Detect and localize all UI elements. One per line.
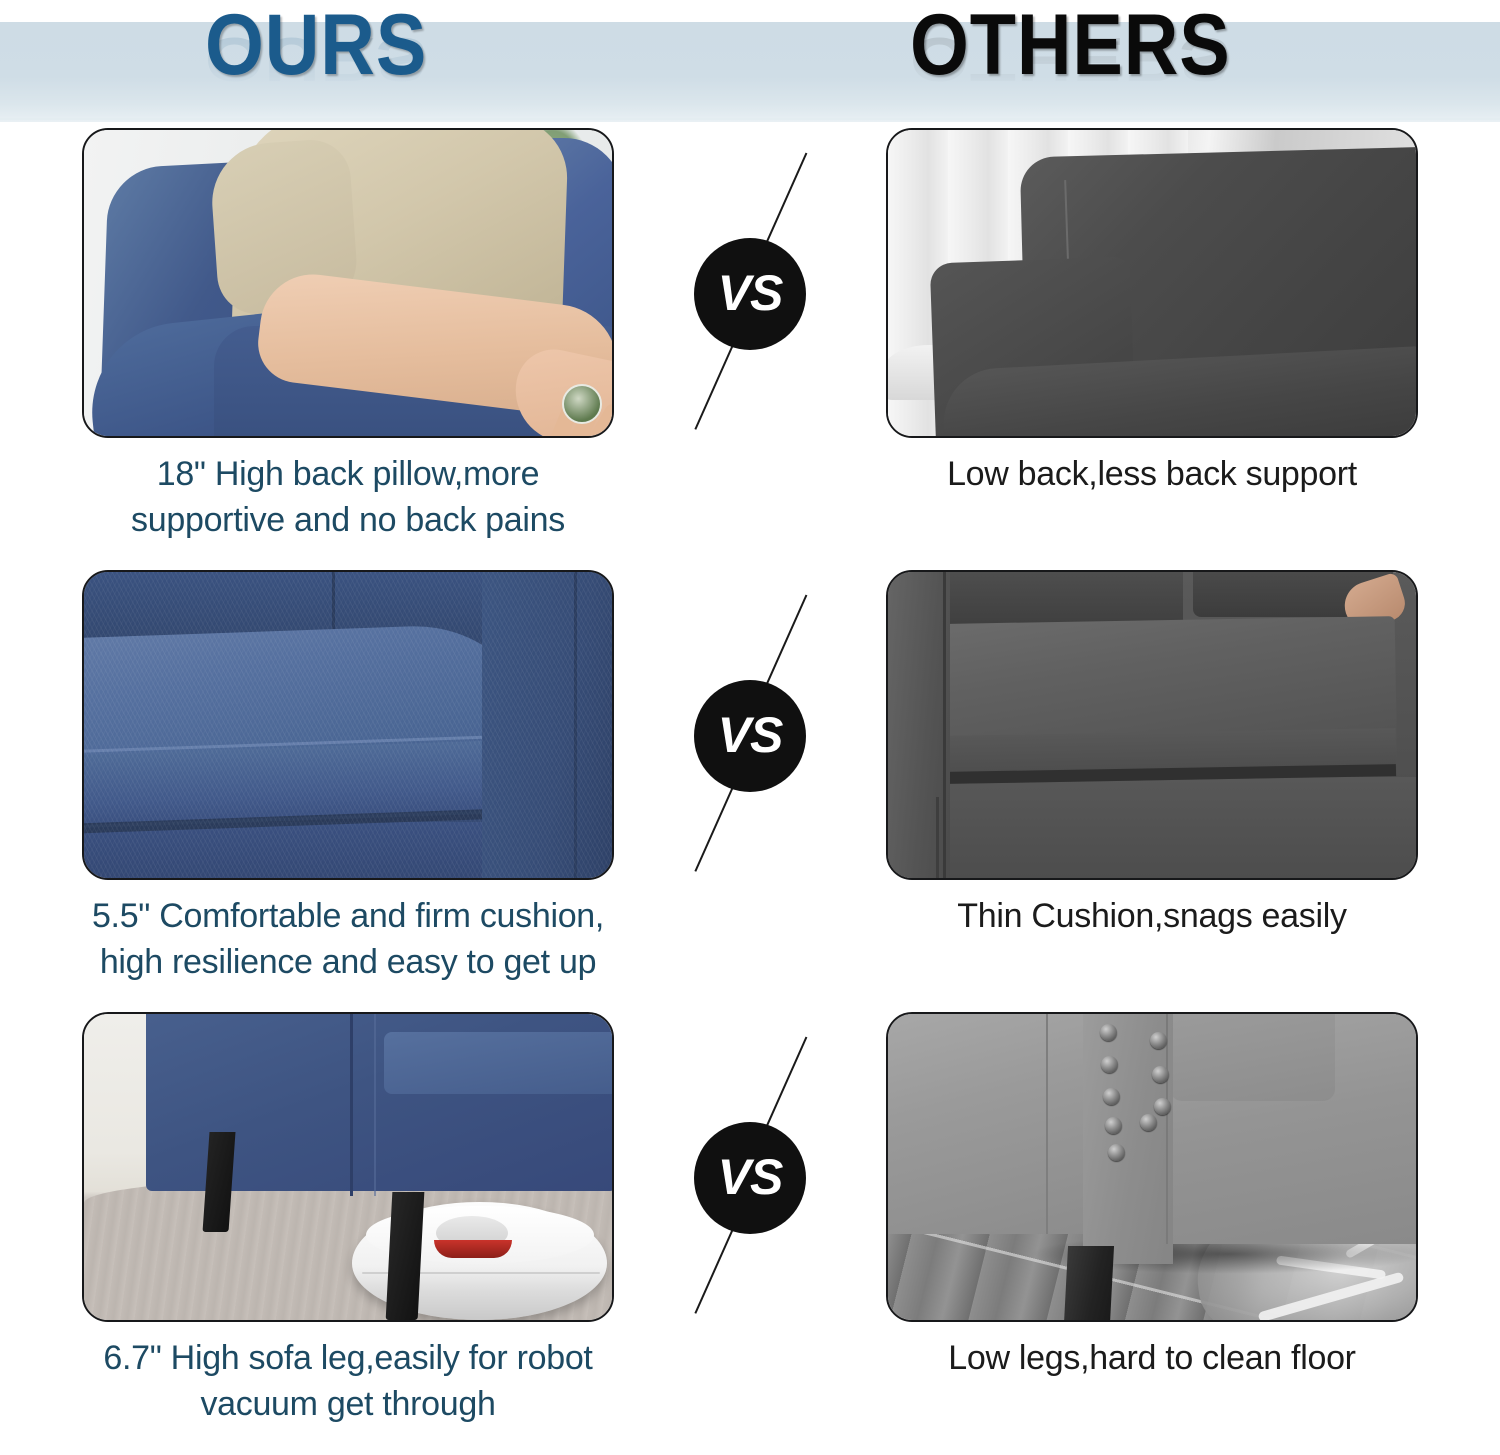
others-title: OTHERS bbox=[910, 2, 1231, 88]
gray-sofa-thin-cushion-photo bbox=[886, 570, 1418, 880]
vs-divider-back-support: VS bbox=[650, 128, 850, 570]
ours-caption-back-support: 18" High back pillow,more supportive and… bbox=[82, 452, 614, 544]
vs-badge: VS bbox=[694, 238, 806, 350]
header-band-baseline bbox=[0, 118, 1500, 120]
blue-sofa-high-legs-robot-vacuum-photo bbox=[82, 1012, 614, 1322]
comparison-row-legs: 6.7" High sofa leg,easily for robot vacu… bbox=[0, 1012, 1500, 1454]
others-caption-cushion: Thin Cushion,snags easily bbox=[886, 894, 1418, 940]
others-panel-cushion: Thin Cushion,snags easily bbox=[886, 570, 1418, 940]
vs-badge: VS bbox=[694, 1122, 806, 1234]
others-caption-legs: Low legs,hard to clean floor bbox=[886, 1336, 1418, 1382]
comparison-rows: 18" High back pillow,more supportive and… bbox=[0, 128, 1500, 1454]
ours-caption-cushion: 5.5" Comfortable and firm cushion, high … bbox=[82, 894, 614, 986]
comparison-row-cushion: 5.5" Comfortable and firm cushion, high … bbox=[0, 570, 1500, 1012]
vs-divider-legs: VS bbox=[650, 1012, 850, 1454]
comparison-header: OURS OTHERS OURS OTHERS bbox=[0, 0, 1500, 128]
vs-badge-label: VS bbox=[718, 1152, 783, 1202]
ours-title: OURS bbox=[205, 2, 427, 88]
ours-panel-back-support: 18" High back pillow,more supportive and… bbox=[82, 128, 614, 544]
others-panel-legs: Low legs,hard to clean floor bbox=[886, 1012, 1418, 1382]
comparison-row-back-support: 18" High back pillow,more supportive and… bbox=[0, 128, 1500, 570]
vs-badge: VS bbox=[694, 680, 806, 792]
vs-divider-cushion: VS bbox=[650, 570, 850, 1012]
blue-sofa-thick-cushion-photo bbox=[82, 570, 614, 880]
others-caption-back-support: Low back,less back support bbox=[886, 452, 1418, 498]
gray-sofa-low-back-photo bbox=[886, 128, 1418, 438]
ours-caption-legs: 6.7" High sofa leg,easily for robot vacu… bbox=[82, 1336, 614, 1428]
others-panel-back-support: Low back,less back support bbox=[886, 128, 1418, 498]
vs-badge-label: VS bbox=[718, 268, 783, 318]
ours-panel-legs: 6.7" High sofa leg,easily for robot vacu… bbox=[82, 1012, 614, 1428]
vs-badge-label: VS bbox=[718, 710, 783, 760]
gray-sofa-low-legs-wood-floor-photo bbox=[886, 1012, 1418, 1322]
blue-sofa-high-back-with-person-photo bbox=[82, 128, 614, 438]
ours-panel-cushion: 5.5" Comfortable and firm cushion, high … bbox=[82, 570, 614, 986]
